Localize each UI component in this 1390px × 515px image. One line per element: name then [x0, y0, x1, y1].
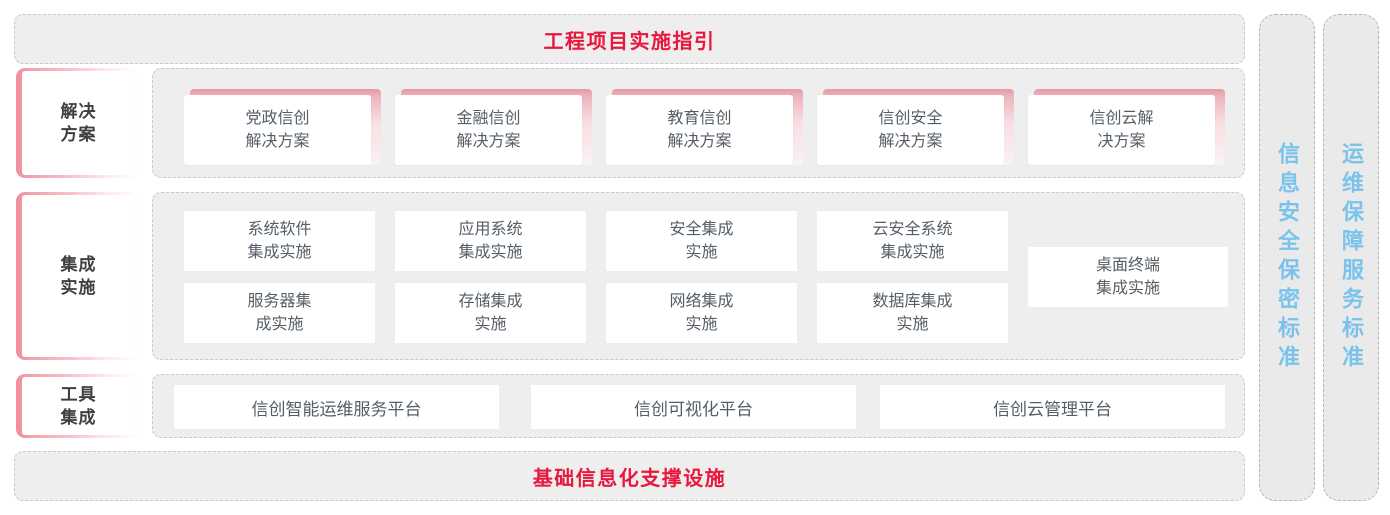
category-label-integration: 集成 实施 — [61, 253, 97, 300]
integration-card-r1c4[interactable]: 云安全系统 集成实施 — [817, 211, 1008, 271]
tool-card-1[interactable]: 信创智能运维服务平台 — [174, 385, 499, 429]
category-label-solution: 解决 方案 — [61, 100, 97, 147]
standard-bar-operations-label: 运维保障服务标准 — [1340, 142, 1362, 374]
standard-bar-security-label: 信息安全保密标准 — [1276, 142, 1298, 374]
page-title: 工程项目实施指引 — [544, 25, 716, 54]
integration-card-r2c4[interactable]: 数据库集成 实施 — [817, 283, 1008, 343]
header-banner: 工程项目实施指引 — [14, 14, 1245, 64]
solution-card-1-label: 党政信创 解决方案 — [245, 107, 309, 153]
solution-card-5-face: 信创云解 决方案 — [1028, 95, 1215, 165]
tool-card-2-label: 信创可视化平台 — [634, 395, 753, 420]
solution-card-4-face: 信创安全 解决方案 — [817, 95, 1004, 165]
solution-card-4[interactable]: 信创安全 解决方案 — [817, 89, 1008, 165]
solution-card-4-label: 信创安全 解决方案 — [878, 107, 942, 153]
integration-card-r1c2-label: 应用系统 集成实施 — [458, 218, 522, 264]
integration-row-panel: 系统软件 集成实施 应用系统 集成实施 安全集成 实施 云安全系统 集成实施 服… — [152, 192, 1245, 360]
tool-card-2[interactable]: 信创可视化平台 — [531, 385, 856, 429]
solution-card-1[interactable]: 党政信创 解决方案 — [184, 89, 375, 165]
category-chip-tools[interactable]: 工具 集成 — [16, 374, 138, 438]
solution-card-2-label: 金融信创 解决方案 — [456, 107, 520, 153]
solution-card-5-label: 信创云解 决方案 — [1089, 107, 1153, 153]
solution-row-panel: 党政信创 解决方案 金融信创 解决方案 教育信创 解决方案 信创安全 解决方案 … — [152, 68, 1245, 178]
integration-card-r1c1[interactable]: 系统软件 集成实施 — [184, 211, 375, 271]
foundation-title: 基础信息化支撑设施 — [533, 462, 727, 491]
standard-bar-security[interactable]: 信息安全保密标准 — [1259, 14, 1315, 501]
tool-card-3-label: 信创云管理平台 — [993, 395, 1112, 420]
tool-card-3[interactable]: 信创云管理平台 — [880, 385, 1225, 429]
integration-card-r2c3[interactable]: 网络集成 实施 — [606, 283, 797, 343]
solution-card-3-label: 教育信创 解决方案 — [667, 107, 731, 153]
solution-card-3-face: 教育信创 解决方案 — [606, 95, 793, 165]
integration-card-r2c2[interactable]: 存储集成 实施 — [395, 283, 586, 343]
category-chip-integration-inner: 集成 实施 — [22, 195, 135, 357]
integration-card-r1c4-label: 云安全系统 集成实施 — [872, 218, 952, 264]
integration-card-desktop-terminal[interactable]: 桌面终端 集成实施 — [1028, 247, 1228, 307]
integration-card-desktop-terminal-label: 桌面终端 集成实施 — [1096, 254, 1160, 300]
integration-card-r2c2-label: 存储集成 实施 — [458, 290, 522, 336]
integration-card-r2c4-label: 数据库集成 实施 — [872, 290, 952, 336]
category-chip-tools-inner: 工具 集成 — [22, 377, 135, 435]
integration-card-r1c2[interactable]: 应用系统 集成实施 — [395, 211, 586, 271]
integration-card-r1c1-label: 系统软件 集成实施 — [247, 218, 311, 264]
solution-card-2-face: 金融信创 解决方案 — [395, 95, 582, 165]
category-chip-integration[interactable]: 集成 实施 — [16, 192, 138, 360]
integration-card-r1c3[interactable]: 安全集成 实施 — [606, 211, 797, 271]
category-label-tools: 工具 集成 — [61, 383, 97, 430]
foundation-banner: 基础信息化支撑设施 — [14, 451, 1245, 501]
integration-card-r2c1[interactable]: 服务器集 成实施 — [184, 283, 375, 343]
solution-card-5[interactable]: 信创云解 决方案 — [1028, 89, 1219, 165]
diagram-canvas: 工程项目实施指引 解决 方案 集成 实施 工具 集成 党政信创 解决方案 金融信… — [0, 0, 1390, 515]
solution-card-3[interactable]: 教育信创 解决方案 — [606, 89, 797, 165]
solution-card-1-face: 党政信创 解决方案 — [184, 95, 371, 165]
tools-row-panel: 信创智能运维服务平台 信创可视化平台 信创云管理平台 — [152, 374, 1245, 438]
category-chip-solution[interactable]: 解决 方案 — [16, 68, 138, 178]
integration-card-r1c3-label: 安全集成 实施 — [669, 218, 733, 264]
tool-card-1-label: 信创智能运维服务平台 — [252, 395, 422, 420]
standard-bar-operations[interactable]: 运维保障服务标准 — [1323, 14, 1379, 501]
integration-card-r2c1-label: 服务器集 成实施 — [247, 290, 311, 336]
integration-card-r2c3-label: 网络集成 实施 — [669, 290, 733, 336]
solution-card-2[interactable]: 金融信创 解决方案 — [395, 89, 586, 165]
category-chip-solution-inner: 解决 方案 — [22, 71, 135, 175]
